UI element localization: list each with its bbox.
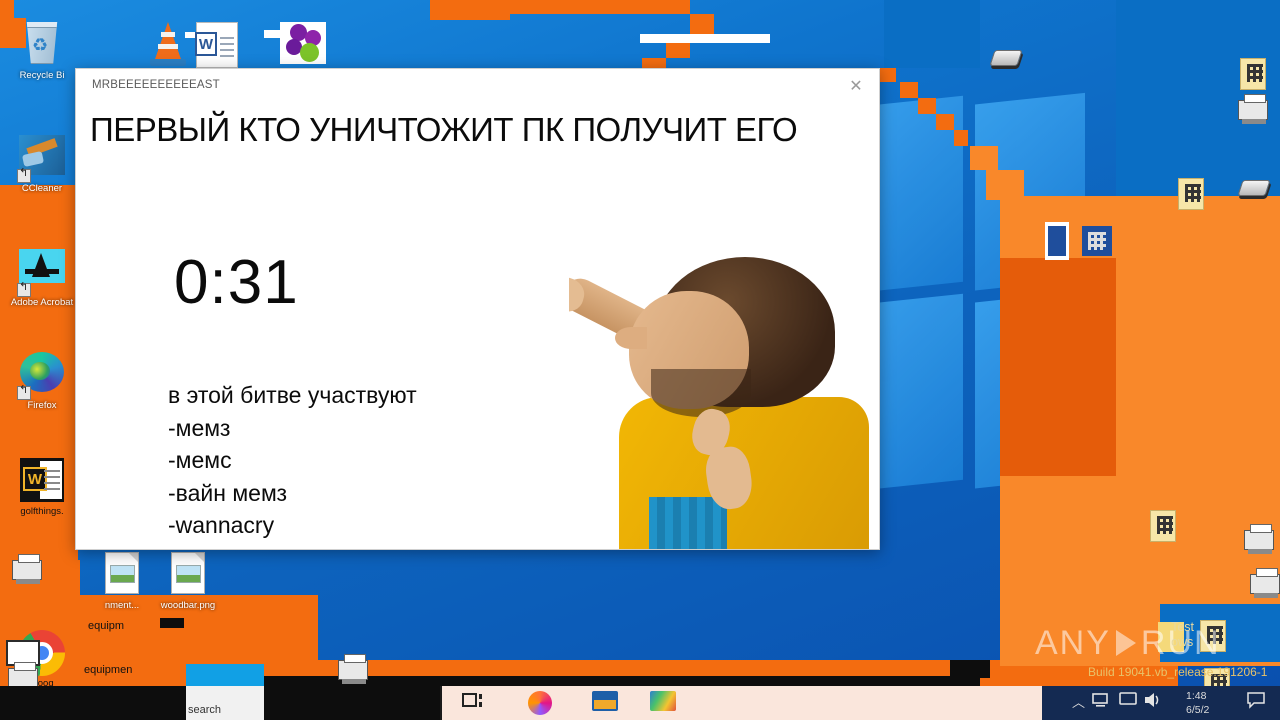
desktop-file-woodbar[interactable]: woodbar.png (152, 552, 224, 611)
desktop-icon-label: Recycle Bi (6, 70, 78, 81)
desktop-screen: W Recycle Bi CCleaner Adobe Acrobat Fire… (0, 0, 1280, 720)
blue-fragment-icon[interactable] (1045, 222, 1069, 260)
windows-build-watermark: Build 19041.vb_release.191206-1 (1088, 665, 1267, 679)
printer-icon[interactable] (12, 560, 42, 580)
close-icon[interactable]: ✕ (843, 75, 869, 99)
notepad-icon[interactable] (1240, 58, 1266, 90)
hangouts-icon[interactable] (280, 22, 326, 64)
desktop-icon-adobe-acrobat[interactable]: Adobe Acrobat (6, 245, 78, 308)
desktop-icon-label: Firefox (6, 400, 78, 411)
desktop-icon-golfthings[interactable]: W golfthings. (6, 458, 78, 517)
stray-label-equipmen: equipmen (84, 664, 132, 676)
list-item: -wannacry (168, 509, 417, 542)
printer-icon-2[interactable] (8, 668, 38, 688)
printer-icon-3[interactable] (1238, 100, 1268, 120)
desktop-icon-label: Adobe Acrobat (6, 297, 78, 308)
chevron-up-icon[interactable]: ︿ (1072, 697, 1085, 709)
ccleaner-icon (19, 135, 65, 181)
file-label: nment... (86, 600, 158, 611)
drive-icon-2[interactable] (1240, 180, 1268, 196)
recycle-bin-icon (19, 22, 65, 68)
display-tray-icon[interactable] (1118, 691, 1144, 715)
list-intro: в этой битве участвуют (168, 379, 417, 412)
desktop-icon-recycle-bin[interactable]: Recycle Bi (6, 22, 78, 81)
anyrun-text-left: ANY (1035, 624, 1111, 663)
meme-image (569, 249, 879, 549)
participants-list: в этой битве участвуют -мемз -мемс -вайн… (168, 379, 417, 550)
watermark-line-2: ows (1171, 635, 1194, 650)
desktop-icon-label: golfthings. (6, 506, 78, 517)
blue-grid-icon[interactable] (1082, 226, 1112, 256)
desktop-file-attachment[interactable]: nment... (86, 552, 158, 611)
desktop-icon-ccleaner[interactable]: CCleaner (6, 135, 78, 194)
desktop-icon-firefox[interactable]: Firefox (6, 352, 78, 411)
firefox-icon (19, 352, 65, 398)
volume-icon[interactable] (1142, 691, 1168, 715)
png-file-icon (99, 552, 145, 598)
search-placeholder: search (188, 704, 221, 716)
task-view-icon[interactable] (462, 691, 488, 715)
file-label: woodbar.png (152, 600, 224, 611)
malware-popup-window[interactable]: MRBEEEEEEEEEEAST ✕ ПЕРВЫЙ КТО УНИЧТОЖИТ … (75, 68, 880, 550)
taskbar[interactable]: search ︿ 1:48 6/5/2 (0, 686, 1280, 720)
adobe-acrobat-icon (19, 249, 65, 295)
png-file-icon (165, 552, 211, 598)
clock-date[interactable]: 6/5/2 (1186, 704, 1209, 716)
notepad-icon-2[interactable] (1178, 178, 1204, 210)
window-heading: ПЕРВЫЙ КТО УНИЧТОЖИТ ПК ПОЛУЧИТ ЕГО (90, 111, 875, 149)
firefox-icon[interactable] (528, 691, 554, 715)
countdown-timer: 0:31 (174, 247, 299, 318)
list-item: -petya (168, 542, 417, 551)
desktop-icon-label: CCleaner (6, 183, 78, 194)
word-document-icon: W (19, 458, 65, 504)
stray-label-equipm: equipm (88, 620, 124, 632)
word-document-icon-top[interactable]: W (196, 22, 238, 68)
printer-icon-4[interactable] (1244, 530, 1274, 550)
window-titlebar[interactable]: MRBEEEEEEEEEEAST ✕ (76, 69, 879, 105)
printer-icon-5[interactable] (1250, 574, 1280, 594)
list-item: -мемс (168, 444, 417, 477)
file-explorer-icon[interactable] (592, 691, 618, 715)
drive-icon[interactable] (992, 50, 1020, 66)
search-input[interactable]: search (186, 664, 280, 720)
watermark-line-1: Test (1171, 620, 1194, 635)
windows-activation-watermark: Test ows (1171, 620, 1194, 650)
notification-icon[interactable] (1246, 691, 1272, 715)
list-item: -мемз (168, 412, 417, 445)
window-title: MRBEEEEEEEEEEAST (92, 79, 220, 91)
vlc-icon[interactable] (148, 22, 188, 66)
clock-time[interactable]: 1:48 (1186, 690, 1206, 702)
list-item: -вайн мемз (168, 477, 417, 510)
play-triangle-icon (1116, 630, 1136, 656)
network-tray-icon[interactable] (1092, 691, 1118, 715)
printer-icon-6[interactable] (338, 660, 368, 680)
paint-icon[interactable] (650, 691, 676, 715)
notepad-icon-3[interactable] (1150, 510, 1176, 542)
